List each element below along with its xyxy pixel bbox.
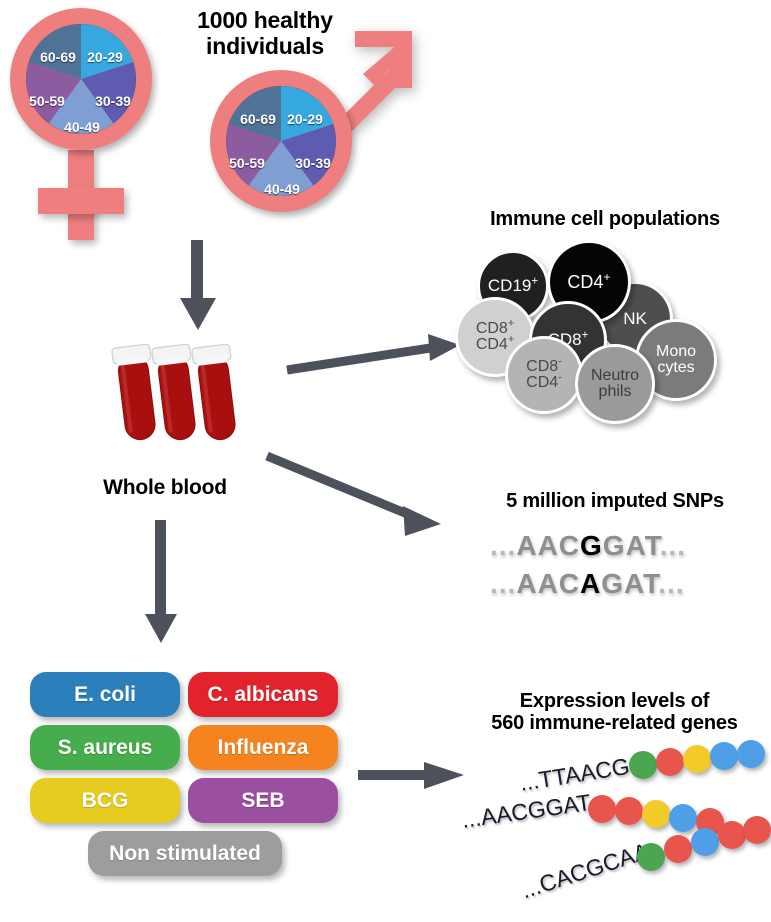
cell-neutrophils-line1: Neutro (591, 368, 639, 384)
snp1-prefix: ... (490, 530, 516, 561)
male-pie-label-60-69: 60-69 (240, 111, 276, 127)
cell-cd8neg-cd4neg-line2: CD4- (526, 375, 562, 391)
snp-sequences: ...AACGGAT... ...AACAGAT... (490, 530, 740, 620)
female-pie-label-50-59: 50-59 (29, 93, 65, 109)
rna-strands: ...TTAACGG ...AACGGAT ...CACGCAA (440, 740, 771, 910)
rna-strand-3-text: ...CACGCAA (518, 838, 653, 905)
rna-strand-1-bead-5 (737, 740, 765, 768)
snp1-variant: G (580, 530, 603, 561)
male-pie-label-50-59: 50-59 (229, 155, 265, 171)
arrow-blood-to-stimuli (140, 520, 184, 645)
snp2-suffix: ... (658, 568, 684, 599)
rna-strand-3-bead-4 (718, 821, 746, 849)
snp-sequence-row-2: ...AACAGAT... (490, 568, 685, 600)
rna-strand-2-bead-3 (642, 800, 670, 828)
cell-cd8-negative-cd4-negative[interactable]: CD8- CD4- (505, 336, 583, 414)
cell-monocytes-label-line2: cytes (656, 360, 696, 376)
stimulus-e-coli[interactable]: E. coli (30, 672, 180, 717)
stimulus-bcg[interactable]: BCG (30, 778, 180, 823)
female-pie-label-20-29: 20-29 (87, 49, 123, 65)
cell-neutrophils[interactable]: Neutro phils (575, 344, 655, 424)
cell-cd8pos-cd4pos-line2: CD4+ (476, 337, 514, 353)
rna-strand-3-bead-3 (691, 828, 719, 856)
rna-strand-1-bead-1 (629, 751, 657, 779)
male-pie-label-40-49: 40-49 (264, 181, 300, 197)
rna-strand-2-bead-2 (615, 797, 643, 825)
rna-strand-1-bead-3 (683, 745, 711, 773)
immune-cell-cluster: NK Mono cytes CD19+ CD4+ CD8+ CD4+ CD8+ … (455, 240, 755, 425)
male-pie-svg (226, 86, 336, 196)
rna-strand-1-bead-4 (710, 742, 738, 770)
stimulus-non-stimulated[interactable]: Non stimulated (88, 831, 282, 876)
arrow-down-right-svg (265, 450, 455, 540)
female-pie-label-60-69: 60-69 (40, 49, 76, 65)
female-age-pie-chart (26, 24, 136, 134)
blood-tubes-svg (100, 340, 250, 460)
rna-strand-2-bead-1 (588, 795, 616, 823)
cell-nk-label: NK (623, 310, 647, 327)
snp2-right: GAT (601, 568, 658, 599)
stimulus-s-aureus[interactable]: S. aureus (30, 725, 180, 770)
blood-tube-3 (192, 344, 241, 442)
cd19-plus-sign: + (531, 276, 538, 288)
expression-title-line1: Expression levels of (462, 690, 767, 712)
rna-strand-3-bead-5 (743, 816, 771, 844)
arrow-down-svg-2 (140, 520, 184, 645)
arrow-up-right-svg (285, 330, 465, 380)
cell-neutrophils-line2: phils (591, 384, 639, 400)
stimuli-panel: E. coli C. albicans S. aureus Influenza … (30, 672, 340, 892)
arrow-blood-to-snps (265, 450, 455, 540)
rna-strand-1-bead-2 (656, 748, 684, 776)
cell-monocytes-label-line1: Mono (656, 344, 696, 360)
snp1-left: AAC (516, 530, 580, 561)
male-pie-label-30-39: 30-39 (295, 155, 331, 171)
female-symbol-stem-cross (38, 188, 124, 214)
expression-title: Expression levels of 560 immune-related … (462, 690, 767, 735)
rna-strand-2-bead-4 (669, 804, 697, 832)
stimulus-seb[interactable]: SEB (188, 778, 338, 823)
stimulus-c-albicans[interactable]: C. albicans (188, 672, 338, 717)
whole-blood-label: Whole blood (75, 476, 255, 500)
arrow-blood-to-cells (285, 330, 465, 380)
male-age-pie-chart (226, 86, 336, 196)
snp2-left: AAC (516, 568, 580, 599)
female-pie-label-40-49: 40-49 (64, 119, 100, 135)
snp2-prefix: ... (490, 568, 516, 599)
blood-tubes[interactable] (100, 340, 250, 460)
snp1-suffix: ... (660, 530, 686, 561)
cd8-plus-sign: + (582, 330, 589, 342)
snps-title: 5 million imputed SNPs (470, 490, 760, 512)
arrow-down-svg (176, 240, 220, 332)
female-pie-label-30-39: 30-39 (95, 93, 131, 109)
cell-cd19-label: CD19+ (488, 277, 538, 294)
immune-cell-populations-title: Immune cell populations (455, 208, 755, 230)
rna-strand-3-bead-1 (637, 843, 665, 871)
cell-cd8neg-cd4neg-line1: CD8- (526, 359, 562, 375)
rna-strand-3-bead-2 (664, 835, 692, 863)
cd4-plus-sign: + (603, 270, 610, 284)
male-pie-label-20-29: 20-29 (287, 111, 323, 127)
arrow-donors-to-blood (176, 240, 220, 332)
snp-sequence-row-1: ...AACGGAT... (490, 530, 686, 562)
expression-title-line2: 560 immune-related genes (462, 712, 767, 734)
stimulus-influenza[interactable]: Influenza (188, 725, 338, 770)
cell-cd4-label: CD4+ (567, 273, 610, 291)
snp2-variant: A (580, 568, 601, 599)
female-pie-svg (26, 24, 136, 134)
snp1-right: GAT (603, 530, 660, 561)
